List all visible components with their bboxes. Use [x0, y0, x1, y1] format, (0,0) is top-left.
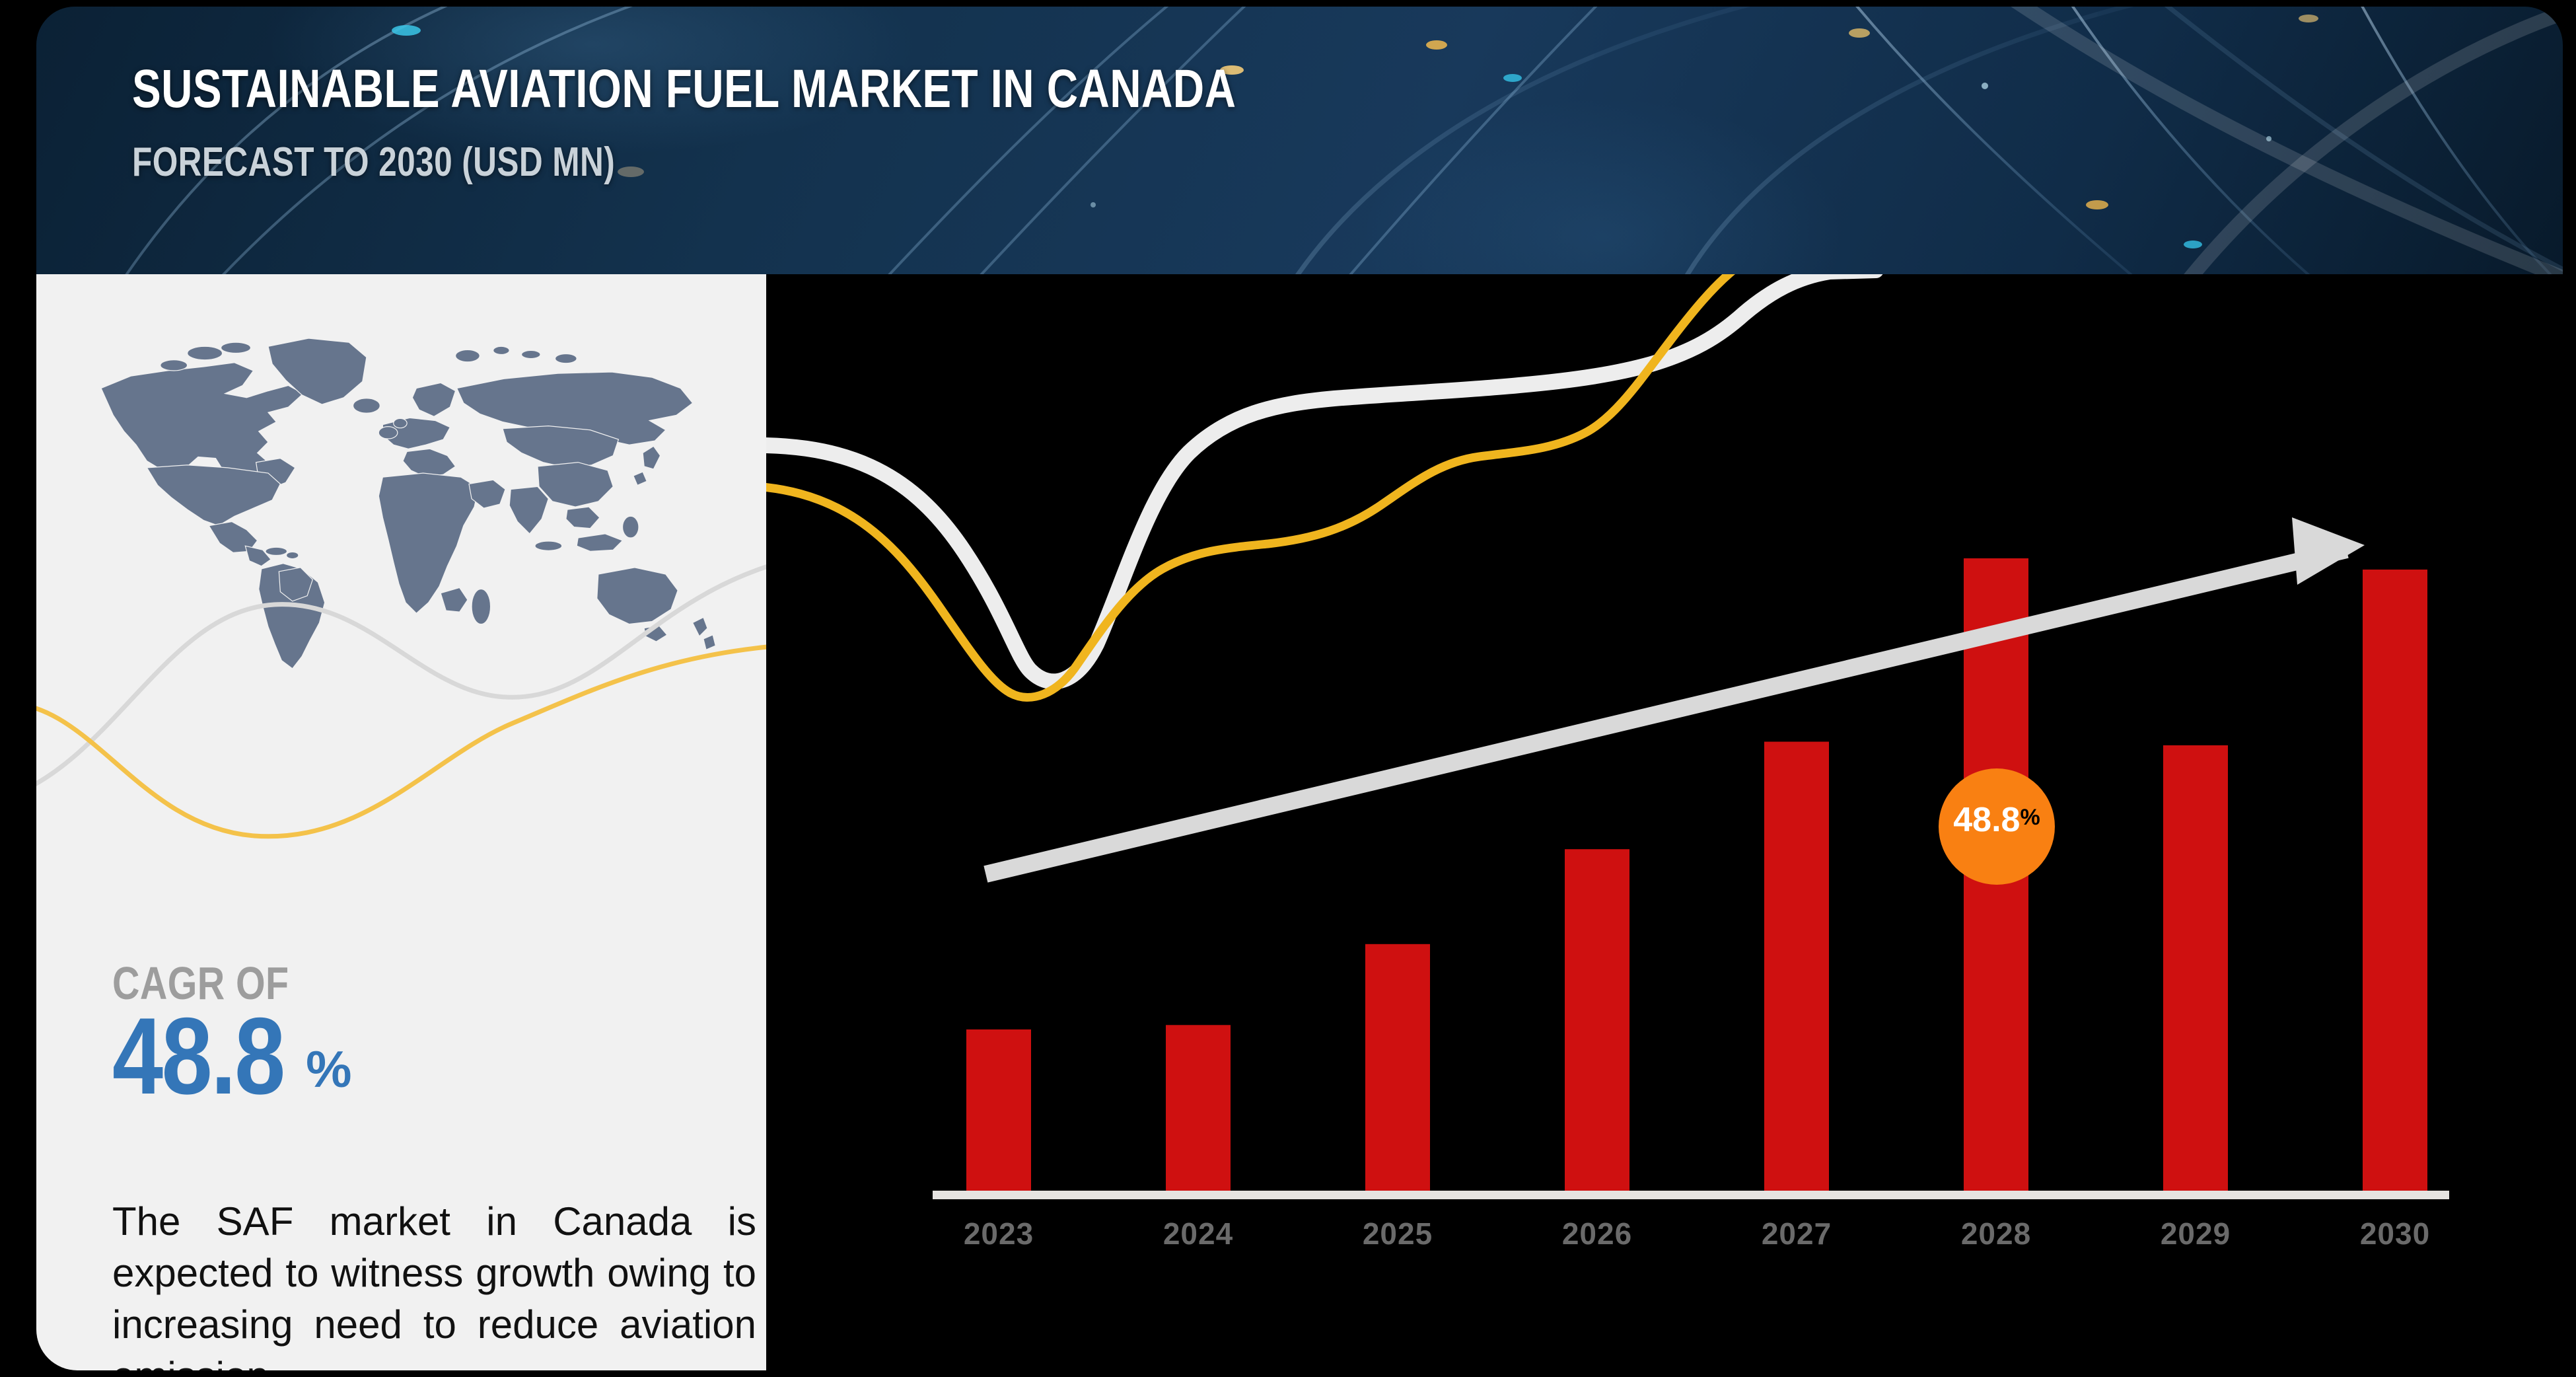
cagr-badge-value: 48.8 — [1953, 800, 2020, 840]
tick-label-2023: 2023 — [964, 1216, 1034, 1251]
bar-group — [966, 558, 2427, 1191]
bar-2024 — [1166, 1025, 1231, 1191]
cagr-percent-symbol: % — [306, 1043, 351, 1104]
cagr-badge-percent: % — [2020, 805, 2040, 831]
header-banner: SUSTAINABLE AVIATION FUEL MARKET IN CANA… — [36, 7, 2563, 274]
infographic-canvas: SUSTAINABLE AVIATION FUEL MARKET IN CANA… — [0, 0, 2576, 1377]
cagr-block: CAGR OF 48.8 % — [112, 961, 352, 1104]
bar-chart — [766, 274, 2563, 1370]
description-text: The SAF market in Canada is expected to … — [112, 1196, 756, 1370]
bar-2029 — [2163, 745, 2228, 1191]
tick-label-2027: 2027 — [1762, 1216, 1832, 1251]
bar-2023 — [966, 1029, 1031, 1191]
bar-2025 — [1365, 944, 1430, 1191]
tick-label-2028: 2028 — [1961, 1216, 2031, 1251]
bar-2030 — [2363, 570, 2427, 1191]
tick-label-2029: 2029 — [2161, 1216, 2231, 1251]
chart-panel: 48.8 % 2023 2024 2025 2026 2027 2028 202… — [766, 274, 2563, 1370]
panel-decorative-curves — [36, 294, 766, 961]
bar-2027 — [1764, 742, 1829, 1191]
tick-label-2030: 2030 — [2360, 1216, 2430, 1251]
page-title: SUSTAINABLE AVIATION FUEL MARKET IN CANA… — [132, 58, 1236, 120]
cagr-badge: 48.8 % — [1939, 768, 2055, 885]
left-info-panel: CAGR OF 48.8 % The SAF market in Canada … — [36, 274, 766, 1370]
x-axis-line — [933, 1191, 2449, 1199]
bar-2026 — [1565, 849, 1629, 1191]
page-subtitle: FORECAST TO 2030 (USD MN) — [132, 139, 615, 186]
cagr-value: 48.8 — [112, 1008, 284, 1104]
tick-label-2026: 2026 — [1562, 1216, 1632, 1251]
decorative-sparklines — [766, 274, 1876, 697]
tick-label-2025: 2025 — [1363, 1216, 1433, 1251]
tick-label-2024: 2024 — [1163, 1216, 1233, 1251]
